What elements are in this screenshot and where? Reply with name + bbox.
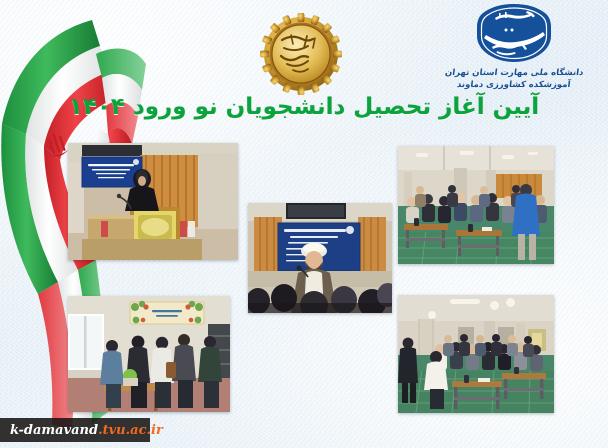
photo-top-right <box>398 146 554 264</box>
watermark-site-domain: .tvu.ac.ir <box>98 423 163 438</box>
logo-subtitle-line-1: دانشگاه ملی مهارت استان تهران <box>444 67 584 79</box>
national-skills-university-logo <box>475 2 553 64</box>
photo-bottom-left <box>68 296 230 412</box>
watermark-bar: k-damavand.tvu.ac.ir <box>0 418 150 442</box>
watermark-text: k-damavand.tvu.ac.ir <box>10 423 163 438</box>
gold-gear-seal <box>258 8 344 98</box>
photo-bottom-right <box>398 295 554 413</box>
page-title: آیین آغاز تحصیل دانشجویان نو ورود ۱۴۰۴ <box>0 94 608 120</box>
logo-subtitle-line-2: آموزشکده کشاورزی دماوند <box>457 79 572 91</box>
university-logo-block: دانشگاه ملی مهارت استان تهران آموزشکده ک… <box>426 2 602 106</box>
photo-center <box>248 203 392 313</box>
photo-top-left <box>68 143 238 260</box>
poster-canvas: دانشگاه ملی مهارت استان تهران آموزشکده ک… <box>0 0 608 448</box>
watermark-site-name: k-damavand <box>10 423 98 438</box>
